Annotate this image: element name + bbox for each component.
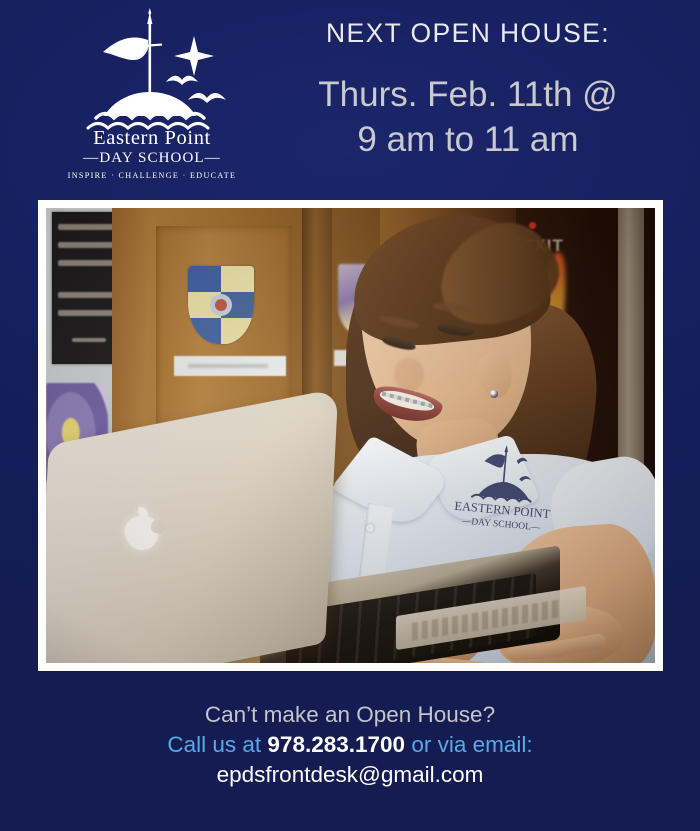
embroidered-school-logo-icon: EASTERN POINT —DAY SCHOOL— — [452, 440, 556, 542]
contact-phone-line: Call us at 978.283.1700 or via email: — [0, 730, 700, 760]
call-us-prefix: Call us at — [167, 732, 267, 757]
logo-school-subtitle: —DAY SCHOOL— — [62, 149, 242, 168]
logo-tagline: INSPIRE · CHALLENGE · EDUCATE — [62, 169, 242, 183]
header-text-block: NEXT OPEN HOUSE: Thurs. Feb. 11th @ 9 am… — [248, 16, 688, 162]
contact-question: Can’t make an Open House? — [0, 700, 700, 730]
contact-email[interactable]: epdsfrontdesk@gmail.com — [0, 760, 700, 790]
phone-number[interactable]: 978.283.1700 — [267, 732, 405, 757]
open-house-time: 9 am to 11 am — [248, 117, 688, 162]
open-house-kicker: NEXT OPEN HOUSE: — [248, 16, 688, 50]
contact-block: Can’t make an Open House? Call us at 978… — [0, 700, 700, 790]
open-house-datetime: Thurs. Feb. 11th @ 9 am to 11 am — [248, 72, 688, 162]
open-house-flyer: Eastern Point —DAY SCHOOL— INSPIRE · CHA… — [0, 0, 700, 831]
earring-icon — [490, 390, 498, 398]
logo-school-name: Eastern Point — [62, 128, 242, 149]
open-house-date: Thurs. Feb. 11th @ — [248, 72, 688, 117]
flyer-header: Eastern Point —DAY SCHOOL— INSPIRE · CHA… — [0, 0, 700, 200]
school-logo: Eastern Point —DAY SCHOOL— INSPIRE · CHA… — [62, 8, 242, 194]
logo-wordmark: Eastern Point —DAY SCHOOL— INSPIRE · CHA… — [62, 128, 242, 183]
photo-frame: EXIT — [38, 200, 663, 671]
or-via-email-suffix: or via email: — [405, 732, 533, 757]
shirt-button — [366, 524, 374, 532]
student-photo: EXIT — [46, 208, 655, 663]
sailboat-logo-icon — [62, 8, 242, 132]
